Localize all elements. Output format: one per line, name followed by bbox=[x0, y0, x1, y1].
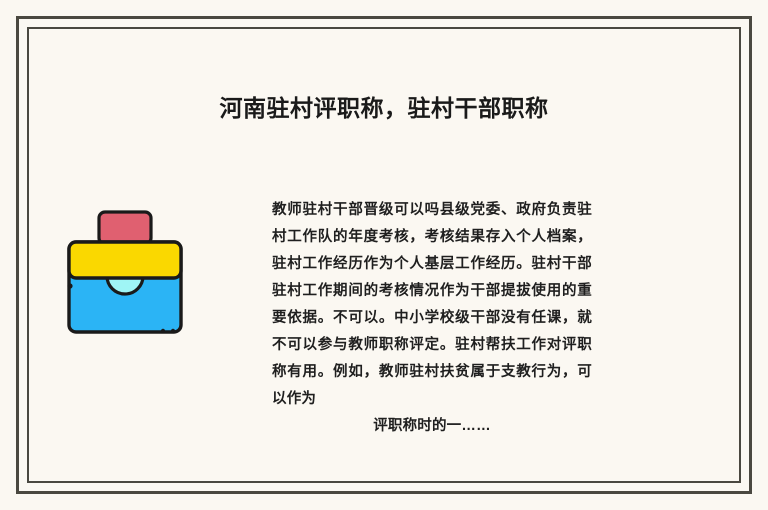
page-title: 河南驻村评职称，驻村干部职称 bbox=[27, 95, 741, 123]
article-text: 教师驻村干部晋级可以吗县级党委、政府负责驻村工作队的年度考核，考核结果存入个人档… bbox=[272, 197, 592, 440]
article-text-main: 教师驻村干部晋级可以吗县级党委、政府负责驻村工作队的年度考核，考核结果存入个人档… bbox=[272, 202, 592, 407]
article-text-tail: 评职称时的一…… bbox=[272, 413, 592, 440]
content-container: 河南驻村评职称，驻村干部职称 bbox=[27, 27, 741, 483]
page-root: 河南驻村评职称，驻村干部职称 bbox=[0, 0, 768, 510]
briefcase-toolbox-icon bbox=[55, 202, 195, 342]
